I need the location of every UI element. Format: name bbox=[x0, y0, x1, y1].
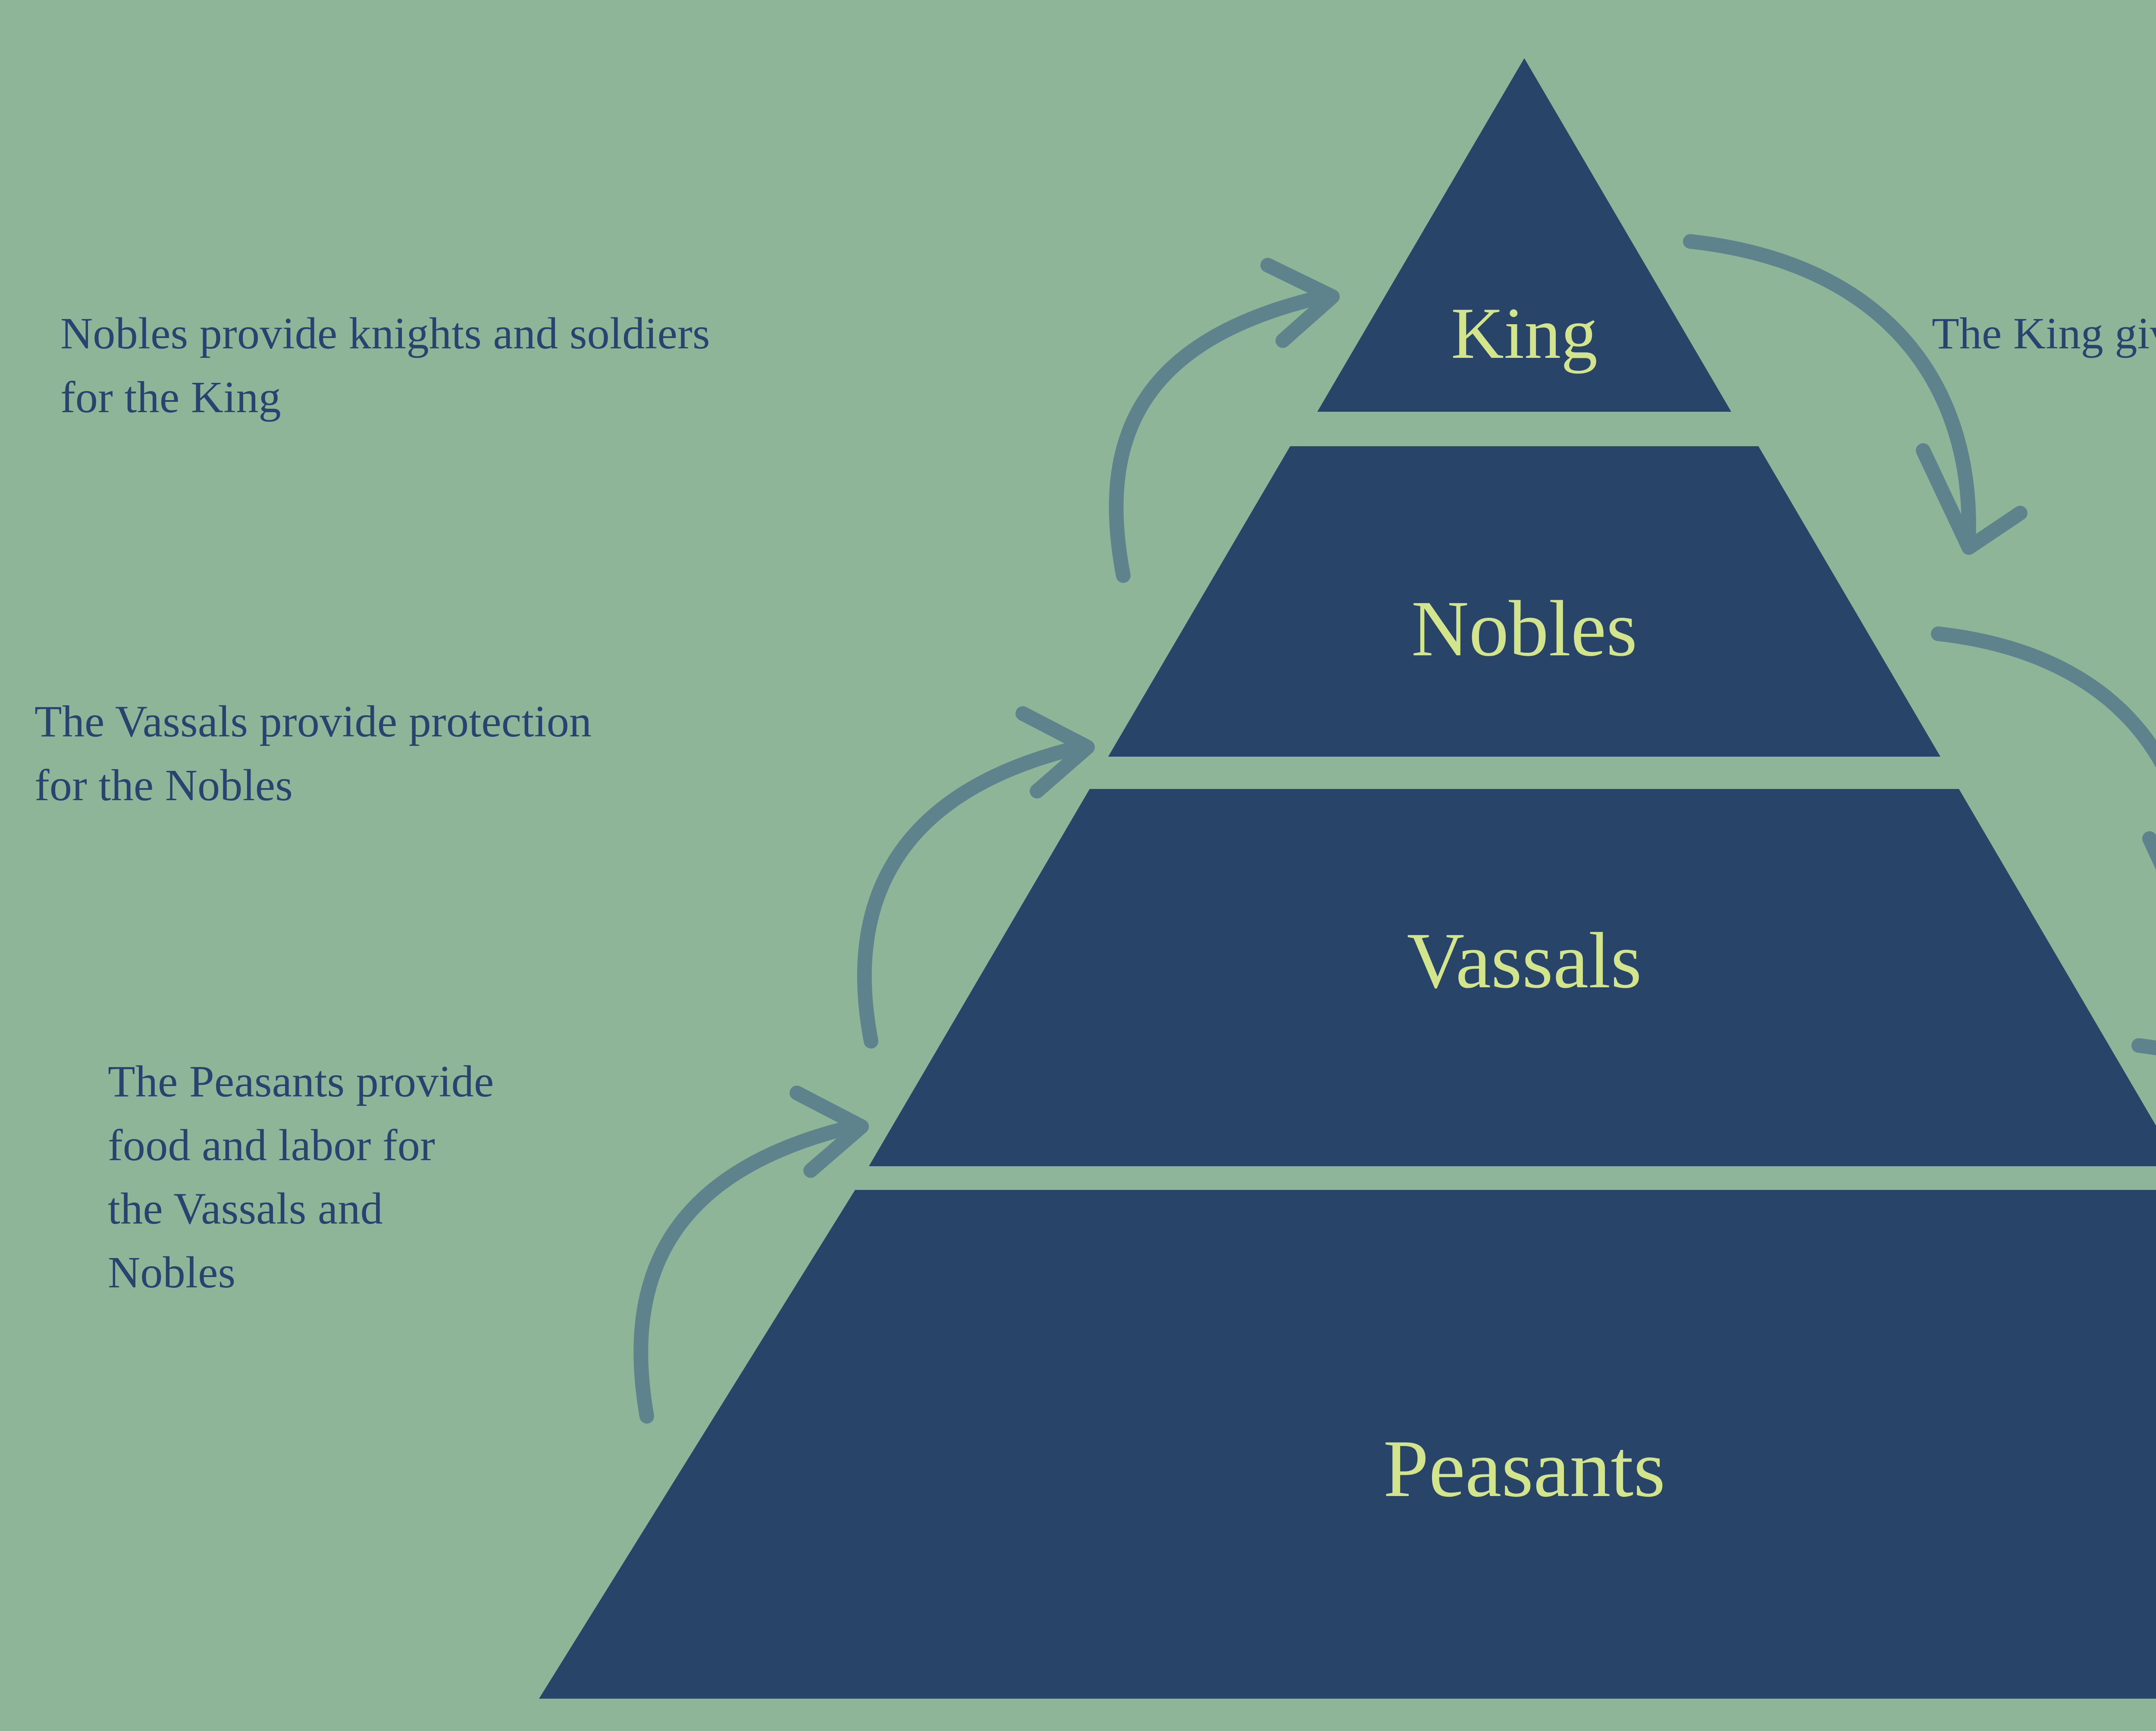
note-king-gives-land: The King gives land to the Nobles bbox=[1932, 302, 2156, 366]
tier-label-king: King bbox=[1451, 293, 1598, 374]
note-nobles-provide-knights: Nobles provide knights and soldiers for … bbox=[60, 302, 1164, 429]
note-vassals-protect-peasants: The Vassals protect the Peasants bbox=[2152, 987, 2156, 1114]
tier-label-nobles: Nobles bbox=[1411, 585, 1637, 673]
feudal-pyramid-svg: King Nobles Vassals Peasants bbox=[0, 0, 2156, 1731]
tier-label-peasants: Peasants bbox=[1383, 1424, 1665, 1514]
tier-label-vassals: Vassals bbox=[1407, 917, 1642, 1005]
note-nobles-give-land: The Nobles give land to the Vassals bbox=[2065, 617, 2156, 744]
note-vassals-provide-protection: The Vassals provide protection for the N… bbox=[34, 690, 1026, 817]
diagram-canvas: King Nobles Vassals Peasants bbox=[0, 0, 2156, 1731]
note-peasants-provide-food: The Peasants provide food and labor for … bbox=[108, 1050, 798, 1305]
